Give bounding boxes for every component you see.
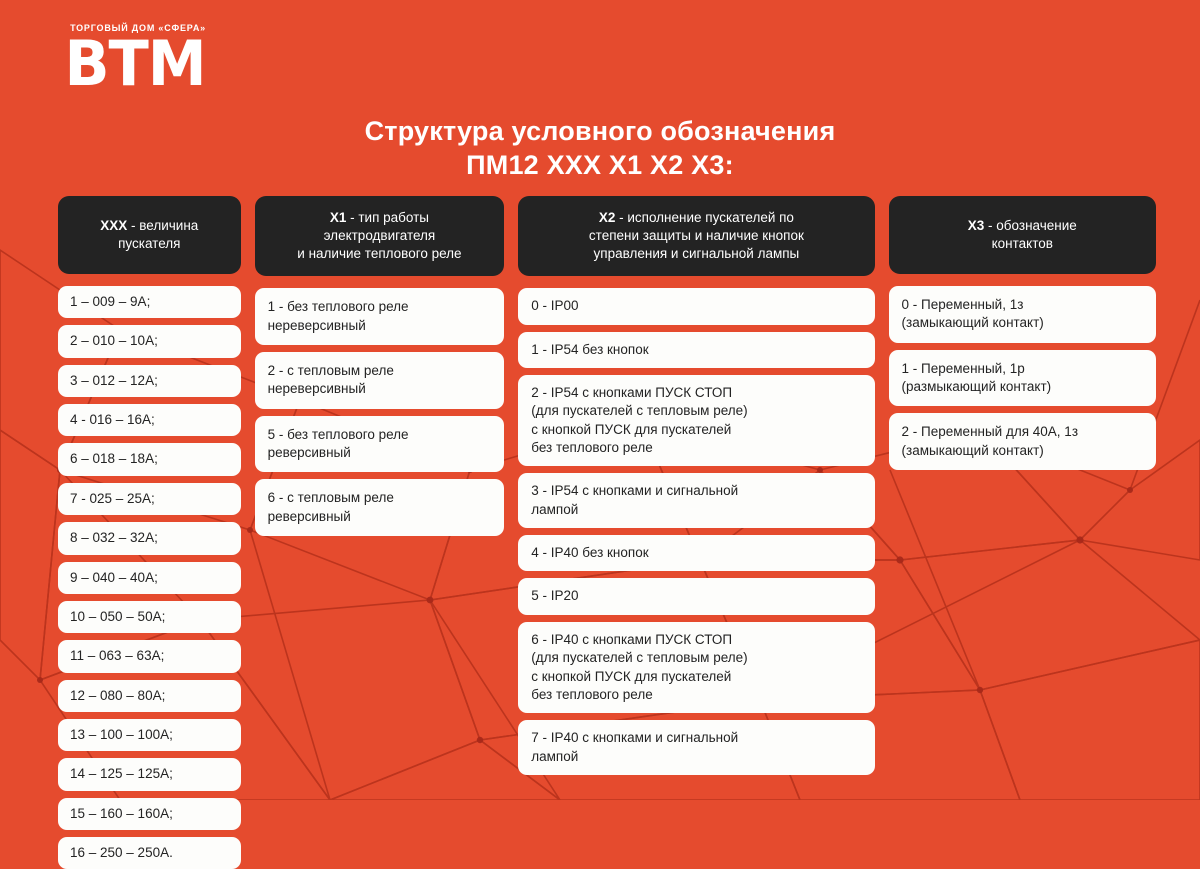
list-item[interactable]: 16 – 250 – 250А.: [58, 837, 241, 869]
column-header-x2: X2 - исполнение пускателей по степени за…: [518, 196, 874, 276]
column-header-code-x2: X2: [599, 210, 616, 225]
column-header-code-x3: X3: [968, 218, 985, 233]
list-item[interactable]: 1 - Переменный, 1р (размыкающий контакт): [889, 350, 1156, 407]
column-x3: X3 - обозначение контактов 0 - Переменны…: [889, 196, 1156, 470]
column-header-text-x2: - исполнение пускателей по степени защит…: [589, 210, 804, 261]
list-item[interactable]: 3 - IP54 с кнопками и сигнальной лампой: [518, 473, 874, 528]
column-header-text-x3: - обозначение контактов: [984, 218, 1077, 251]
list-item[interactable]: 7 - IP40 с кнопками и сигнальной лампой: [518, 720, 874, 775]
list-item[interactable]: 2 – 010 – 10А;: [58, 325, 241, 357]
brand-logo: ТОРГОВЫЙ ДОМ «СФЕРА» ВТМ: [60, 24, 210, 92]
list-item[interactable]: 13 – 100 – 100А;: [58, 719, 241, 751]
list-item[interactable]: 9 – 040 – 40А;: [58, 562, 241, 594]
list-item[interactable]: 15 – 160 – 160А;: [58, 798, 241, 830]
column-xxx: XXX - величина пускателя 1 – 009 – 9А; 2…: [58, 196, 241, 869]
column-x2: X2 - исполнение пускателей по степени за…: [518, 196, 874, 775]
list-item[interactable]: 4 - 016 – 16А;: [58, 404, 241, 436]
list-item[interactable]: 0 - IP00: [518, 288, 874, 324]
list-item[interactable]: 1 – 009 – 9А;: [58, 286, 241, 318]
list-item[interactable]: 14 – 125 – 125А;: [58, 758, 241, 790]
column-header-x3: X3 - обозначение контактов: [889, 196, 1156, 274]
list-item[interactable]: 2 - с тепловым реле нереверсивный: [255, 352, 505, 409]
list-item[interactable]: 0 - Переменный, 1з (замыкающий контакт): [889, 286, 1156, 343]
logo-wordmark: ВТМ: [56, 35, 215, 92]
list-item[interactable]: 6 – 018 – 18А;: [58, 443, 241, 475]
list-item[interactable]: 2 - IP54 с кнопками ПУСК СТОП (для пуска…: [518, 375, 874, 466]
list-item[interactable]: 11 – 063 – 63А;: [58, 640, 241, 672]
page-title: Структура условного обозначения ПМ12 XXX…: [260, 114, 940, 182]
list-item[interactable]: 5 - IP20: [518, 578, 874, 614]
page-title-line-2: ПМ12 XXX X1 X2 X3:: [260, 148, 940, 182]
column-header-text-xxx: - величина пускателя: [118, 218, 198, 251]
list-item[interactable]: 7 - 025 – 25А;: [58, 483, 241, 515]
column-header-code-xxx: XXX: [100, 218, 127, 233]
list-item[interactable]: 12 – 080 – 80А;: [58, 680, 241, 712]
column-header-x1: X1 - тип работы электродвигателя и налич…: [255, 196, 505, 276]
list-item[interactable]: 8 – 032 – 32А;: [58, 522, 241, 554]
column-header-text-x1: - тип работы электродвигателя и наличие …: [297, 210, 461, 261]
list-item[interactable]: 6 - IP40 с кнопками ПУСК СТОП (для пуска…: [518, 622, 874, 713]
column-x1: X1 - тип работы электродвигателя и налич…: [255, 196, 505, 536]
list-item[interactable]: 3 – 012 – 12А;: [58, 365, 241, 397]
list-item[interactable]: 1 - IP54 без кнопок: [518, 332, 874, 368]
column-header-code-x1: X1: [330, 210, 347, 225]
column-header-xxx: XXX - величина пускателя: [58, 196, 241, 274]
list-item[interactable]: 10 – 050 – 50А;: [58, 601, 241, 633]
list-item[interactable]: 4 - IP40 без кнопок: [518, 535, 874, 571]
page-title-line-1: Структура условного обозначения: [260, 114, 940, 148]
list-item[interactable]: 2 - Переменный для 40А, 1з (замыкающий к…: [889, 413, 1156, 470]
list-item[interactable]: 1 - без теплового реле нереверсивный: [255, 288, 505, 345]
list-item[interactable]: 5 - без теплового реле реверсивный: [255, 416, 505, 473]
list-item[interactable]: 6 - с тепловым реле реверсивный: [255, 479, 505, 536]
designation-table: XXX - величина пускателя 1 – 009 – 9А; 2…: [58, 196, 1156, 869]
